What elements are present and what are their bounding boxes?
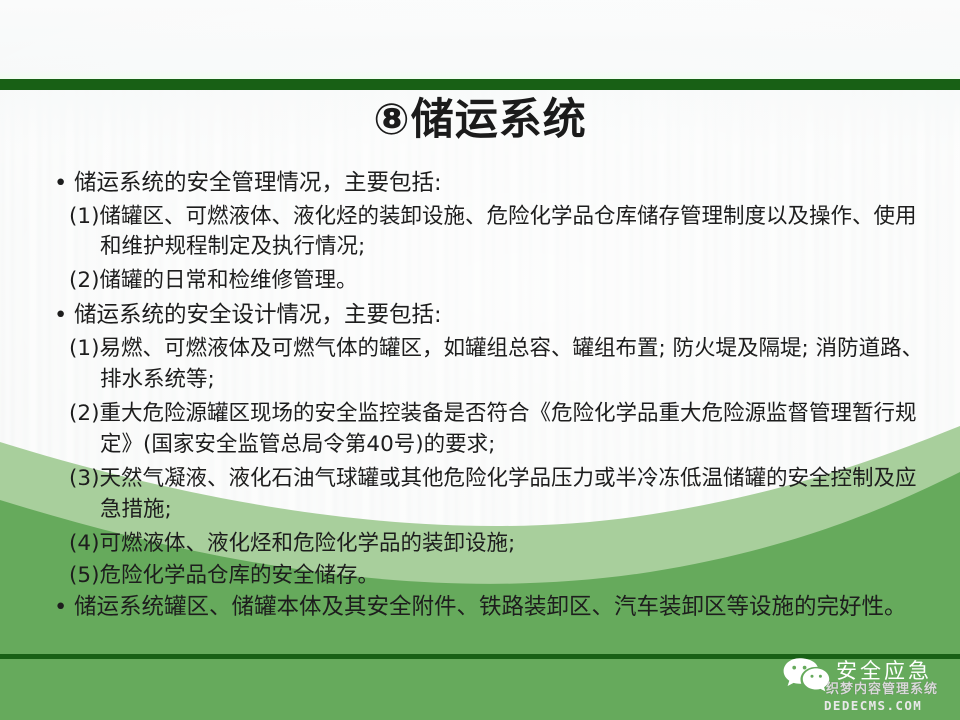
- list-item: (4)可燃液体、液化烃和危险化学品的装卸设施;: [44, 529, 924, 560]
- wechat-icon: [782, 656, 830, 692]
- list-item: • 储运系统罐区、储罐本体及其安全附件、铁路装卸区、汽车装卸区等设施的完好性。: [44, 592, 924, 624]
- slide-canvas: ⑧储运系统 • 储运系统的安全管理情况，主要包括: (1)储罐区、可燃液体、液化…: [0, 0, 960, 720]
- list-item-text: 储运系统罐区、储罐本体及其安全附件、铁路装卸区、汽车装卸区等设施的完好性。: [74, 594, 907, 620]
- list-item: (1)储罐区、可燃液体、液化烃的装卸设施、危险化学品仓库储存管理制度以及操作、使…: [44, 202, 924, 264]
- list-item: (1)易燃、可燃液体及可燃气体的罐区，如罐组总容、罐组布置; 防火堤及隔堤; 消…: [44, 334, 924, 396]
- bullet-glyph: •: [54, 168, 67, 200]
- list-item: (3)天然气凝液、液化石油气球罐或其他危险化学品压力或半冷冻低温储罐的安全控制及…: [44, 464, 924, 526]
- list-item-text: 储运系统的安全管理情况，主要包括:: [74, 170, 442, 196]
- watermark-site-domain: DEDECMS.COM: [824, 698, 922, 713]
- list-item-text: 储运系统的安全设计情况，主要包括:: [74, 302, 442, 328]
- content-body: • 储运系统的安全管理情况，主要包括: (1)储罐区、可燃液体、液化烃的装卸设施…: [44, 168, 924, 626]
- list-item: • 储运系统的安全管理情况，主要包括:: [44, 168, 924, 200]
- list-item: • 储运系统的安全设计情况，主要包括:: [44, 300, 924, 332]
- top-rule: [0, 79, 960, 90]
- watermark: 安全应急 织梦内容管理系统 DEDECMS.COM: [782, 652, 960, 720]
- bullet-glyph: •: [54, 592, 67, 624]
- bullet-glyph: •: [54, 300, 67, 332]
- list-item: (5)危险化学品仓库的安全储存。: [44, 561, 924, 592]
- list-item: (2)重大危险源罐区现场的安全监控装备是否符合《危险化学品重大危险源监督管理暂行…: [44, 399, 924, 461]
- page-title: ⑧储运系统: [0, 96, 960, 145]
- watermark-site-name: 织梦内容管理系统: [826, 682, 938, 698]
- list-item: (2)储罐的日常和检维修管理。: [44, 266, 924, 297]
- top-rule-glow: [0, 70, 960, 79]
